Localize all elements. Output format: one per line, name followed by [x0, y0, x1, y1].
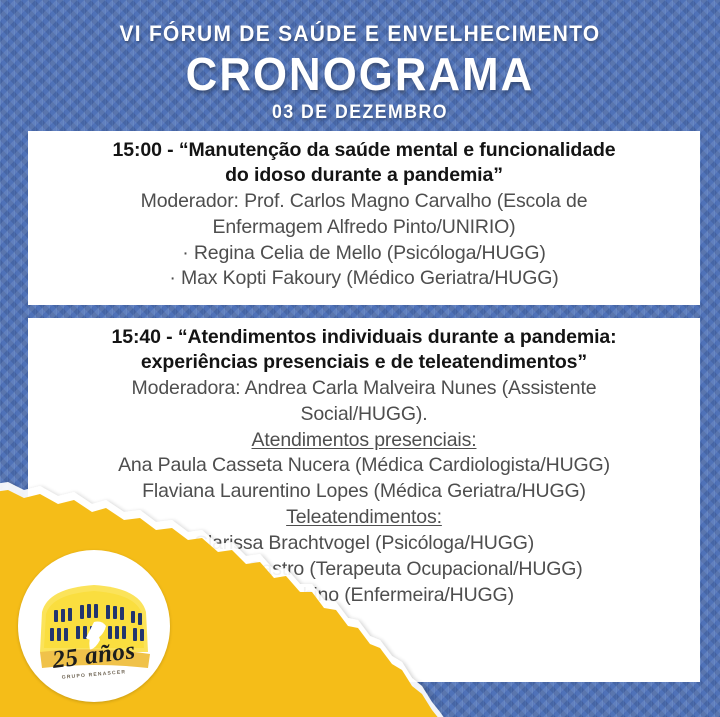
subsection-heading: Atendimentos presenciais: — [38, 428, 690, 454]
session-detail-line: Moderador: Prof. Carlos Magno Carvalho (… — [38, 189, 690, 215]
session-title-line: experiências presenciais e de teleatendi… — [38, 350, 690, 375]
event-date: 03 DE DEZEMBRO — [25, 98, 695, 124]
page-title: CRONOGRAMA — [18, 47, 702, 98]
event-name: VI FÓRUM DE SAÚDE E ENVELHECIMENTO — [25, 0, 695, 47]
session-detail-line: Social/HUGG). — [38, 402, 690, 428]
speaker-line: Flaviana Laurentino Lopes (Médica Geriat… — [38, 479, 690, 505]
anniversary-logo: 25 años GRUPO RENASCER — [18, 550, 170, 702]
session-detail-line: Moderadora: Andrea Carla Malveira Nunes … — [38, 376, 690, 402]
poster-header: VI FÓRUM DE SAÚDE E ENVELHECIMENTO CRONO… — [0, 0, 720, 131]
session-detail-line: Enfermagem Alfredo Pinto/UNIRIO) — [38, 215, 690, 241]
session-title-line: do idoso durante a pandemia” — [38, 163, 690, 188]
subsection-heading: Teleatendimentos: — [38, 505, 690, 531]
speaker-line: · Max Kopti Fakoury (Médico Geriatra/HUG… — [38, 266, 690, 292]
session-panel-1: 15:00 - “Manutenção da saúde mental e fu… — [28, 131, 700, 305]
speaker-line: · Regina Celia de Mello (Psicóloga/HUGG) — [38, 241, 690, 267]
speaker-line: Ana Paula Casseta Nucera (Médica Cardiol… — [38, 453, 690, 479]
poster-canvas: VI FÓRUM DE SAÚDE E ENVELHECIMENTO CRONO… — [0, 0, 720, 717]
session-title-line: 15:40 - “Atendimentos individuais durant… — [38, 325, 690, 350]
panel-divider — [28, 305, 700, 318]
session-title-line: 15:00 - “Manutenção da saúde mental e fu… — [38, 138, 690, 163]
